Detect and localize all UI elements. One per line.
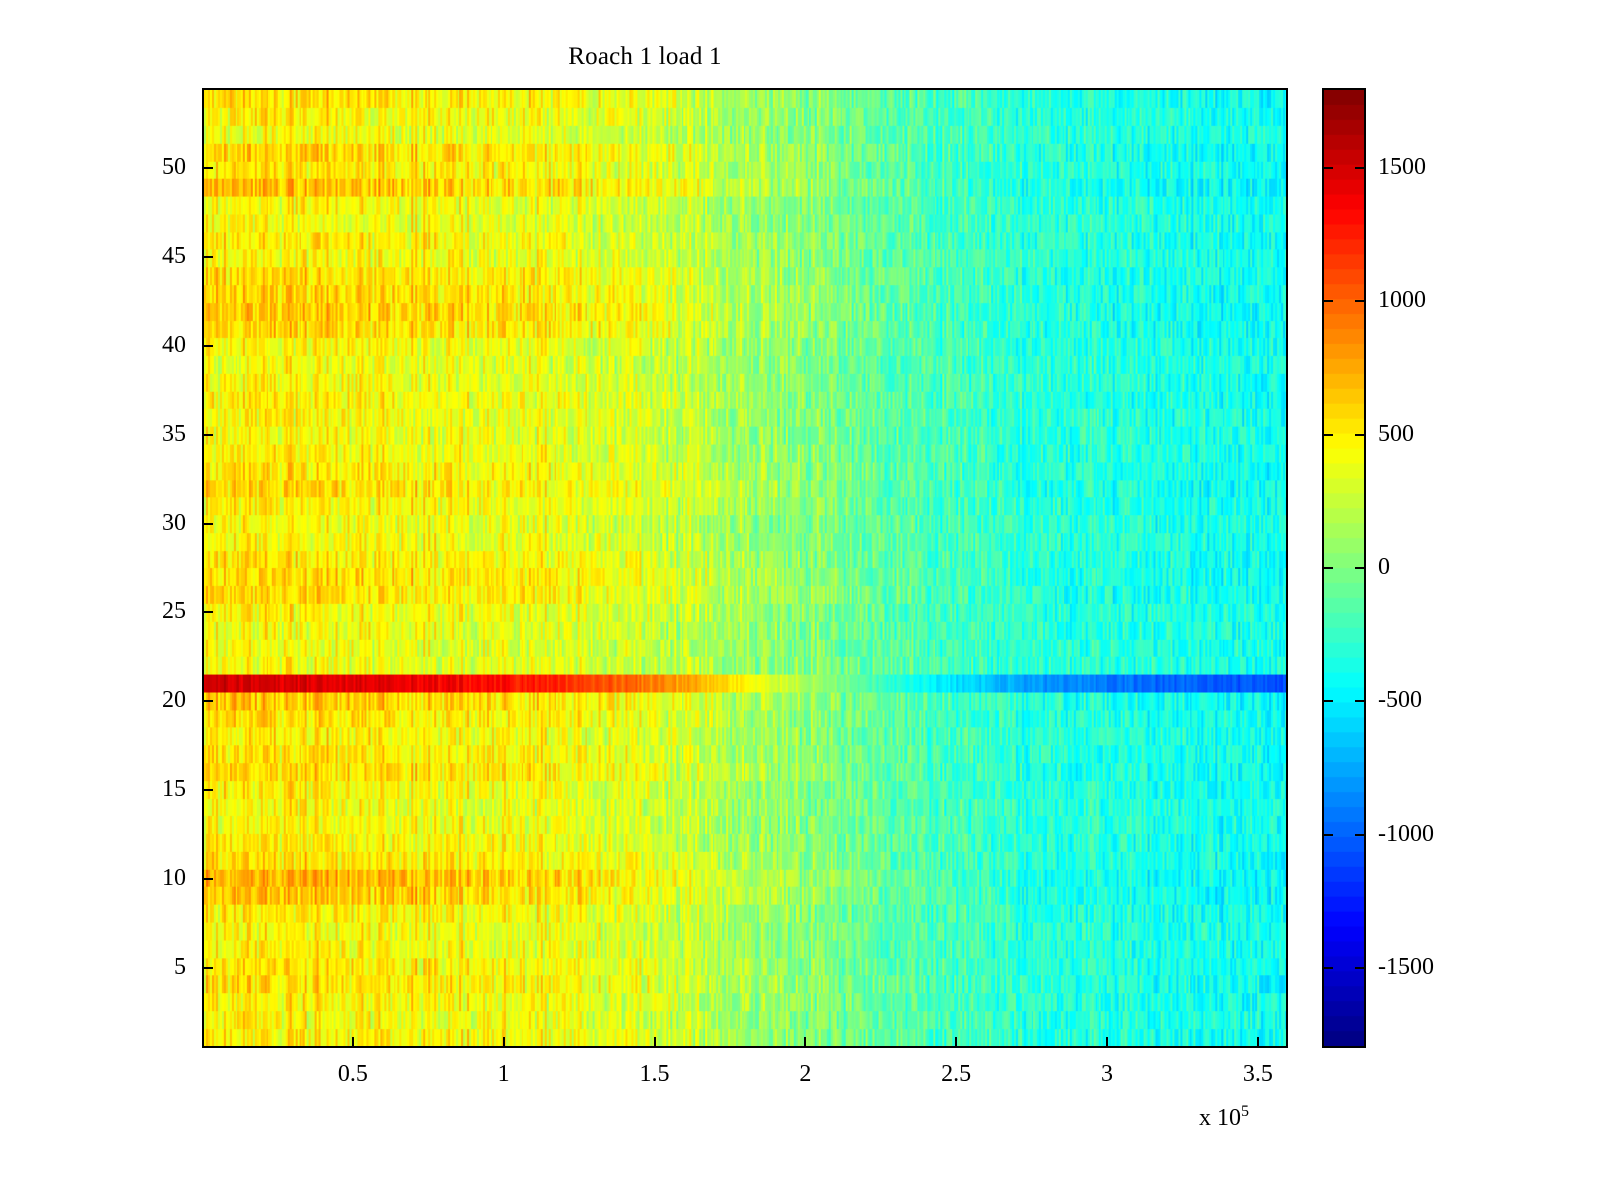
y-axis-tick-label: 15 [126,777,186,801]
figure-root: Roach 1 load 1 5101520253035404550 0.511… [0,0,1600,1200]
y-axis-tick-mark [202,967,213,969]
colorbar-tick-label: 1000 [1378,288,1426,312]
y-axis-tick-mark [202,611,213,613]
x-axis-tick-mark [804,1037,806,1048]
x-axis-tick-label: 0.5 [308,1062,398,1086]
y-axis-tick-mark [202,700,213,702]
x-axis-tick-label: 2.5 [911,1062,1001,1086]
x-axis-tick-mark [1257,1037,1259,1048]
x-axis-tick-label: 3.5 [1213,1062,1303,1086]
x-axis-tick-mark [503,1037,505,1048]
colorbar-tick-label: -500 [1378,688,1422,712]
page-title: Roach 1 load 1 [0,43,1445,71]
colorbar-tick-label: 0 [1378,555,1390,579]
y-axis-tick-mark [202,878,213,880]
colorbar-tick-mark [1355,167,1366,169]
x-axis-tick-mark [955,1037,957,1048]
colorbar-tick-mark [1355,434,1366,436]
colorbar-tick-label: -1500 [1378,955,1434,979]
colorbar-tick-mark [1322,834,1333,836]
y-axis-tick-label: 35 [126,422,186,446]
y-axis-tick-label: 30 [126,511,186,535]
x-axis-tick-label: 1 [459,1062,549,1086]
x-axis-tick-label: 1.5 [610,1062,700,1086]
x-axis-tick-mark [352,1037,354,1048]
x-axis-tick-mark [654,1037,656,1048]
colorbar-tick-mark [1355,700,1366,702]
y-axis-tick-mark [202,789,213,791]
heatmap-image [204,90,1286,1046]
x-axis-exponent-label: x 105 [1199,1103,1249,1132]
colorbar-tick-label: 500 [1378,422,1414,446]
y-axis-tick-label: 25 [126,599,186,623]
y-axis-tick-label: 10 [126,866,186,890]
x-axis-tick-label: 2 [760,1062,850,1086]
y-axis-tick-label: 45 [126,244,186,268]
x-axis-tick-label: 3 [1062,1062,1152,1086]
y-axis-tick-mark [202,345,213,347]
y-axis-tick-mark [202,256,213,258]
colorbar-tick-mark [1322,434,1333,436]
colorbar-tick-mark [1322,567,1333,569]
y-axis-tick-mark [202,167,213,169]
y-axis-tick-label: 20 [126,688,186,712]
y-axis-tick-mark [202,523,213,525]
x-exponent-base: x 10 [1199,1105,1241,1131]
colorbar-tick-mark [1322,167,1333,169]
heatmap-axes[interactable] [202,88,1288,1048]
y-axis-tick-mark [202,434,213,436]
colorbar-tick-label: 1500 [1378,155,1426,179]
colorbar-tick-mark [1355,300,1366,302]
colorbar-tick-label: -1000 [1378,822,1434,846]
y-axis-tick-label: 40 [126,333,186,357]
colorbar-tick-mark [1355,834,1366,836]
colorbar-tick-mark [1322,967,1333,969]
colorbar-tick-mark [1355,567,1366,569]
y-axis-tick-label: 50 [126,155,186,179]
x-exponent-power: 5 [1241,1103,1249,1120]
x-axis-tick-mark [1106,1037,1108,1048]
colorbar-tick-mark [1322,300,1333,302]
y-axis-tick-label: 5 [126,955,186,979]
colorbar-tick-mark [1322,700,1333,702]
colorbar-tick-mark [1355,967,1366,969]
